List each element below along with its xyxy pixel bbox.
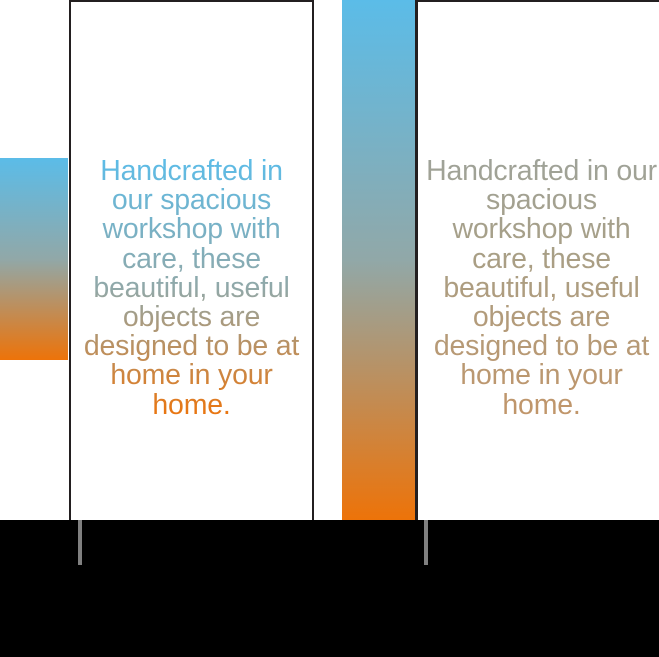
guide-rule-right <box>424 520 428 565</box>
gradient-swatch-left <box>0 158 68 360</box>
text-box-left: Handcrafted in our spacious workshop wit… <box>69 0 314 520</box>
guide-rule-left <box>78 520 82 565</box>
gradient-swatch-right <box>342 0 415 520</box>
text-box-right: Handcrafted in our spacious workshop wit… <box>415 0 659 520</box>
gradient-paragraph-right: Handcrafted in our spacious workshop wit… <box>418 157 659 420</box>
lower-band <box>0 520 659 657</box>
gradient-paragraph-left: Handcrafted in our spacious workshop wit… <box>71 157 312 420</box>
